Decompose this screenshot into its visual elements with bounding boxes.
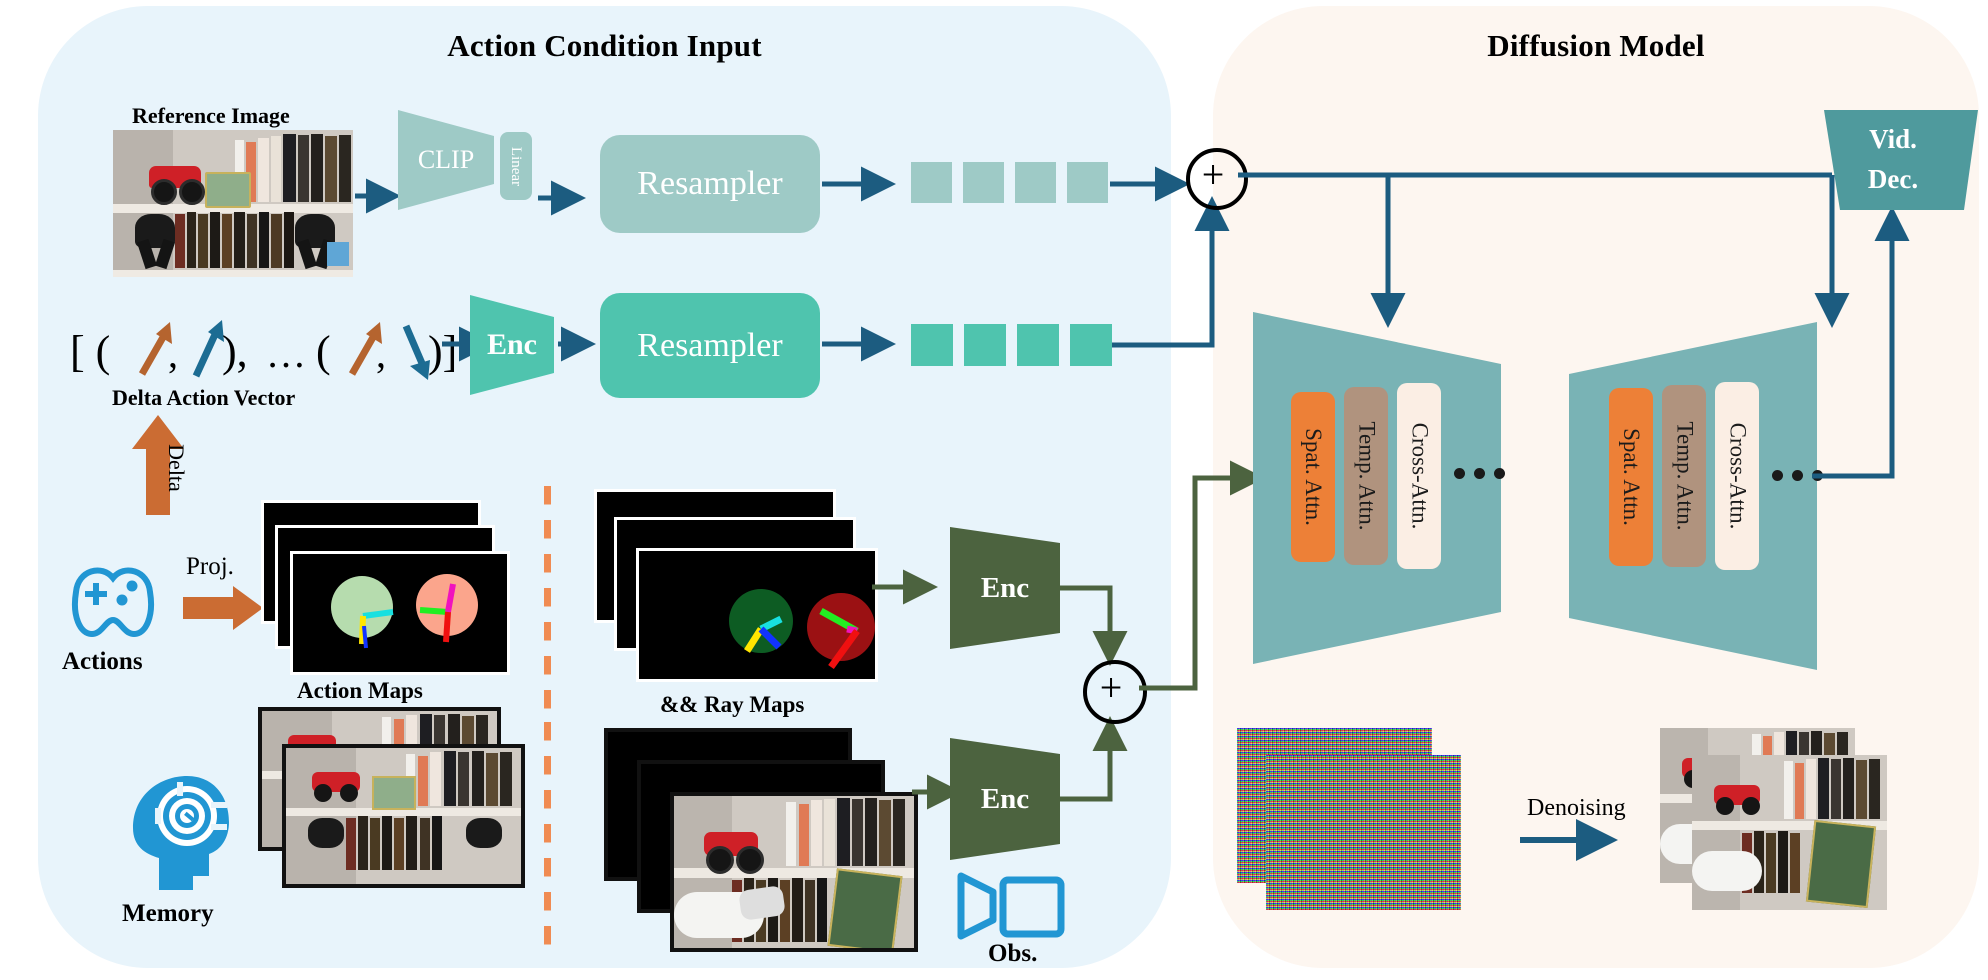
unet2-cross-attn-label-wrap: Cross-Attn.	[1715, 382, 1759, 570]
proj-label: Proj.	[186, 553, 234, 581]
actions-label: Actions	[62, 648, 143, 676]
reference-image-label: Reference Image	[132, 103, 290, 129]
ray-map-frame-front	[636, 548, 878, 682]
delta-arrow-label: Delta	[163, 444, 189, 492]
arrow-enc-to-resampler-action	[558, 336, 606, 356]
unet2-temp-attn-label-wrap: Temp. Attn.	[1662, 385, 1706, 567]
unet1-spat-attn-label: Spat. Attn.	[1300, 428, 1326, 526]
memory-frame-front	[282, 744, 525, 888]
denoising-label: Denoising	[1527, 795, 1626, 822]
unet1-temp-attn-label: Temp. Attn.	[1353, 422, 1379, 531]
image-token-4	[1067, 162, 1108, 203]
arrow-unet2-to-viddec	[1812, 190, 1972, 490]
obs-label: Obs.	[988, 940, 1037, 968]
denoise-noisy-frame-front	[1266, 755, 1461, 910]
video-decoder-label-line2: Dec.	[1808, 158, 1978, 200]
gamepad-icon	[58, 558, 168, 644]
obs-frame-front	[670, 792, 918, 952]
arrow-linear-to-resampler	[538, 190, 592, 210]
camera-icon	[957, 866, 1067, 944]
arrow-ref-to-clip	[355, 188, 403, 212]
unet2-cross-attn-label: Cross-Attn.	[1724, 423, 1750, 530]
image-token-2	[963, 162, 1004, 203]
plus-node-condition-symbol: +	[1186, 148, 1240, 202]
proj-arrow	[183, 584, 265, 632]
arrow-resampler-to-image-tokens	[822, 176, 908, 196]
resampler-image-label: Resampler	[600, 135, 820, 233]
denoise-clean-frame-front	[1692, 755, 1887, 910]
resampler-action-label: Resampler	[600, 293, 820, 398]
unet1-temp-attn-label-wrap: Temp. Attn.	[1344, 387, 1388, 565]
unet1-cross-attn-label-wrap: Cross-Attn.	[1397, 383, 1441, 569]
clip-label: CLIP	[398, 110, 494, 210]
unet1-spat-attn-label-wrap: Spat. Attn.	[1291, 392, 1335, 562]
plus-node-latent-symbol: +	[1083, 660, 1139, 716]
unet2-spat-attn-label-wrap: Spat. Attn.	[1609, 388, 1653, 566]
denoising-arrow	[1520, 830, 1632, 856]
action-map-frame-front	[290, 551, 510, 675]
unet1-ellipsis	[1454, 468, 1505, 479]
video-decoder-label-line1: Vid.	[1808, 118, 1978, 160]
memory-label: Memory	[122, 900, 214, 928]
unet2-temp-attn-label: Temp. Attn.	[1671, 422, 1697, 531]
unet2-spat-attn-label: Spat. Attn.	[1618, 428, 1644, 526]
enc-maps-label: Enc	[950, 527, 1060, 649]
delta-arrow-label-wrap: Delta	[170, 425, 200, 515]
image-token-3	[1015, 162, 1056, 203]
delta-action-vector-label: Delta Action Vector	[112, 385, 295, 411]
panel-title-right: Diffusion Model	[1213, 28, 1979, 64]
linear-label: Linear	[508, 146, 525, 185]
dashed-separator-top	[544, 486, 551, 712]
enc-action-label: Enc	[470, 295, 554, 395]
arrow-resampler-action-to-tokens	[822, 336, 908, 356]
reference-image-thumbnail	[113, 130, 353, 277]
memory-brain-icon	[125, 772, 235, 892]
action-token-1	[911, 324, 953, 366]
linear-label-wrap: Linear	[500, 132, 532, 200]
dashed-separator-bottom	[544, 722, 551, 952]
ray-maps-label: && Ray Maps	[660, 692, 804, 718]
action-token-2	[964, 324, 1006, 366]
image-token-1	[911, 162, 952, 203]
unet1-cross-attn-label: Cross-Attn.	[1406, 423, 1432, 530]
action-token-3	[1017, 324, 1059, 366]
panel-title-left: Action Condition Input	[38, 28, 1171, 64]
delta-action-vector-expression: [ ( , ), … ( , )]	[70, 318, 470, 388]
action-token-4	[1070, 324, 1112, 366]
enc-obs-label: Enc	[950, 738, 1060, 860]
arrow-raymaps-to-enc	[872, 578, 960, 600]
action-maps-label: Action Maps	[297, 678, 423, 704]
